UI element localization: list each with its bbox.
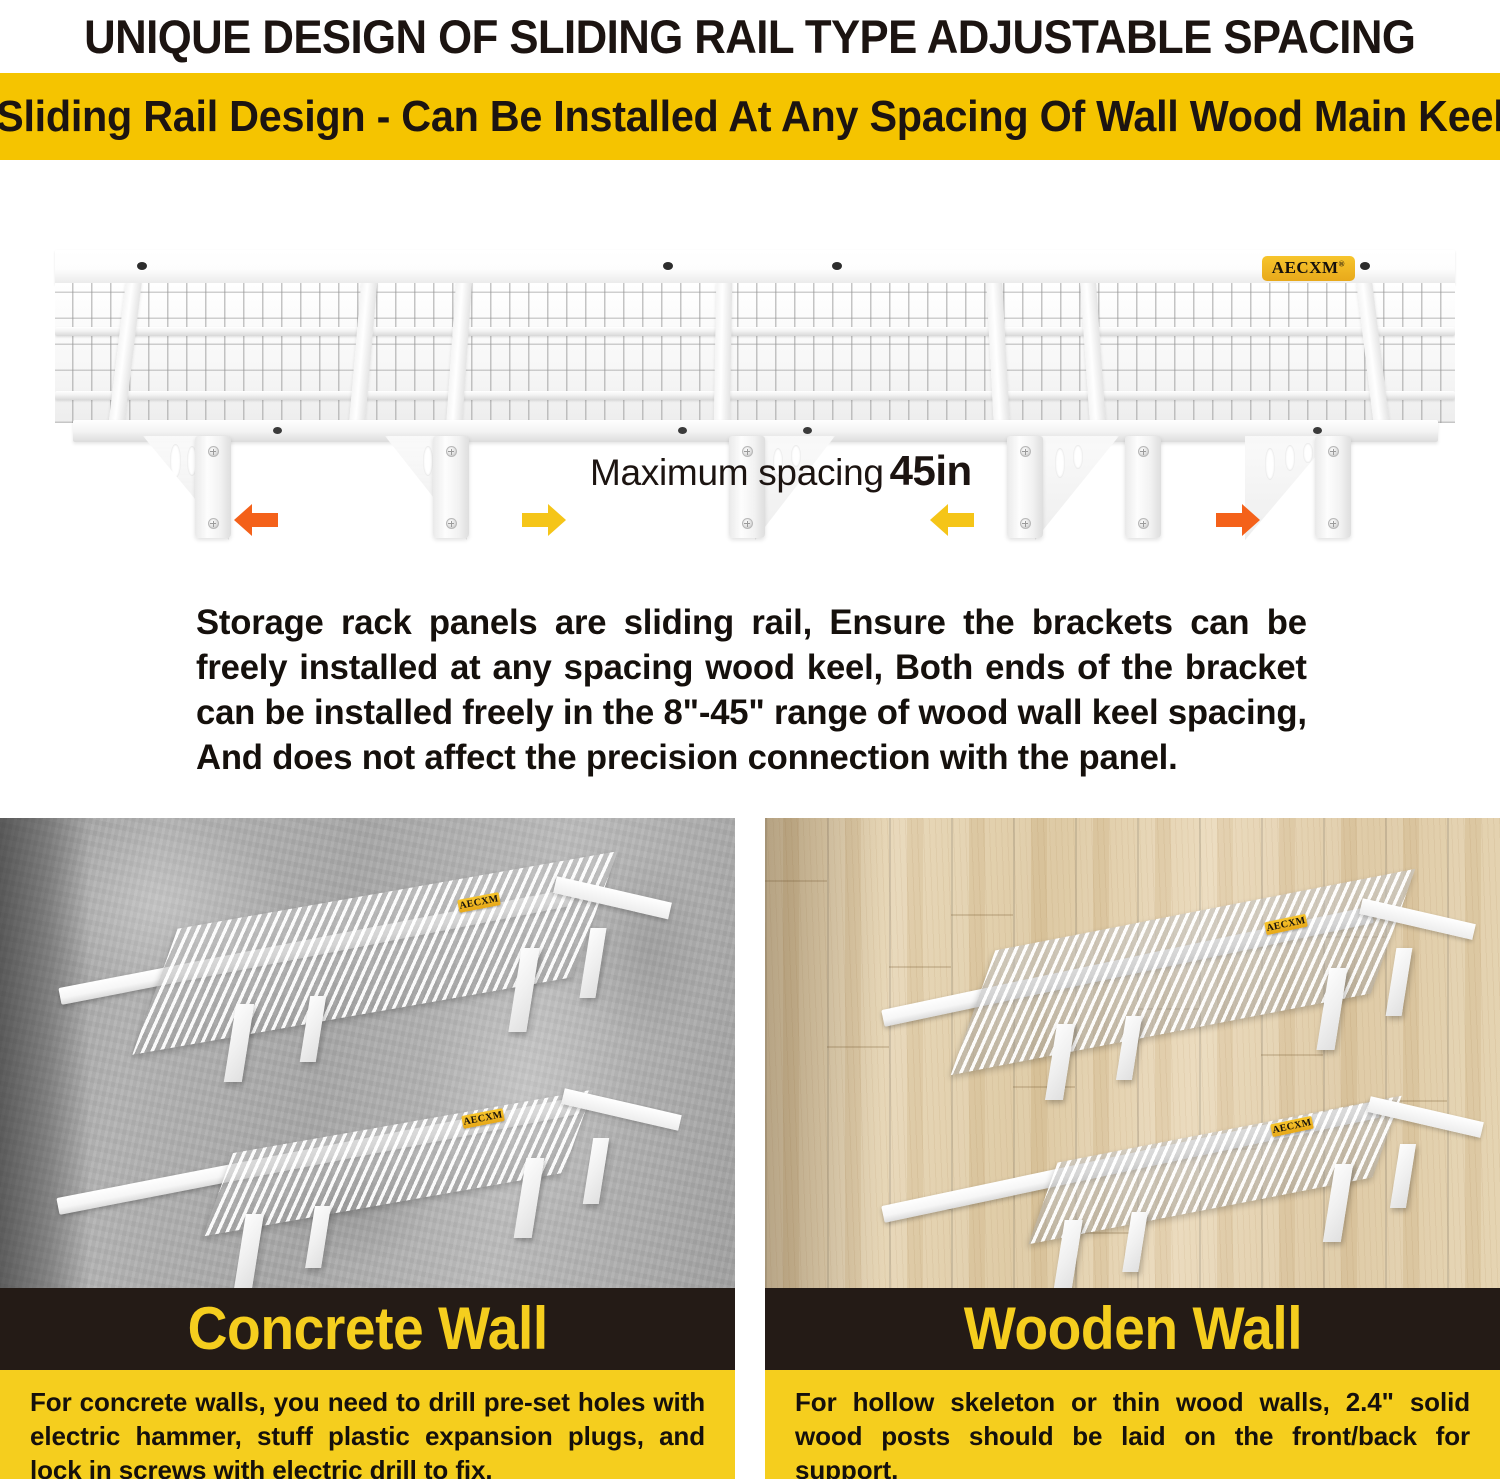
- gusset-cutout: [170, 444, 181, 478]
- caption-bar-wooden: Wooden Wall: [765, 1288, 1500, 1370]
- deck-cross-rail: [55, 327, 1455, 336]
- subtitle-text: Sliding Rail Design - Can Be Installed A…: [0, 95, 1500, 139]
- rail-hole: [832, 262, 842, 270]
- caption-body-concrete: For concrete walls, you need to drill pr…: [0, 1370, 735, 1479]
- shelf-mesh-deck: [132, 851, 617, 1055]
- support-bracket: [1315, 436, 1351, 538]
- bracket-screw: [446, 446, 457, 457]
- caption-body-text-concrete: For concrete walls, you need to drill pr…: [30, 1386, 705, 1479]
- bracket-screw: [446, 518, 457, 529]
- bracket-screw: [1020, 518, 1031, 529]
- headline-section: UNIQUE DESIGN OF SLIDING RAIL TYPE ADJUS…: [0, 0, 1500, 72]
- wall-type-panels: AECXM AECXM Concrete Wall For c: [0, 818, 1500, 1479]
- gusset-cutout: [1285, 445, 1295, 471]
- gusset-cutout: [1055, 448, 1065, 478]
- rail-hole: [1360, 262, 1370, 270]
- deck-cross-rail: [55, 391, 1455, 400]
- support-bracket: [195, 436, 231, 538]
- spacing-label: Maximum spacing: [590, 452, 884, 493]
- back-rail-hole: [1313, 427, 1322, 434]
- bracket-screw: [742, 518, 753, 529]
- bracket-gusset: [1035, 436, 1119, 540]
- arrow-left-orange-icon: [232, 500, 280, 540]
- description-text: Storage rack panels are sliding rail, En…: [196, 600, 1307, 781]
- rail-hole: [663, 262, 673, 270]
- subtitle-banner: Sliding Rail Design - Can Be Installed A…: [0, 73, 1500, 160]
- bracket-screw: [1328, 518, 1339, 529]
- bracket-screw: [1328, 446, 1339, 457]
- arrow-right-orange-icon: [1214, 500, 1262, 540]
- gusset-cutout: [1265, 448, 1275, 480]
- spacing-value: 45in: [890, 447, 972, 494]
- back-rail-hole: [803, 427, 812, 434]
- spacing-caption: Maximum spacing45in: [590, 450, 972, 492]
- bracket-screw: [208, 518, 219, 529]
- concrete-wall-photo: AECXM AECXM: [0, 818, 735, 1288]
- support-bracket: [433, 436, 469, 538]
- registered-mark: ®: [1339, 259, 1345, 268]
- shelf-front-rail: AECXM®: [55, 250, 1455, 285]
- bracket-screw: [208, 446, 219, 457]
- gusset-cutout: [1303, 443, 1313, 463]
- panel-concrete-wall: AECXM AECXM Concrete Wall For c: [0, 818, 735, 1479]
- panel-stile: [714, 283, 732, 423]
- gusset-cutout: [423, 446, 433, 476]
- mounted-shelf-lower: AECXM: [883, 1096, 1431, 1286]
- shelf-bracket: [1390, 1144, 1416, 1208]
- rail-mounting-holes: [55, 250, 1455, 285]
- support-bracket: [1125, 436, 1161, 538]
- back-rail-hole: [273, 427, 282, 434]
- caption-body-text-wooden: For hollow skeleton or thin wood walls, …: [795, 1386, 1470, 1479]
- arrow-right-yellow-icon: [520, 500, 568, 540]
- wood-edge-shadow: [765, 818, 885, 1288]
- mesh-grid: [55, 283, 1455, 423]
- mounted-shelf-lower: AECXM: [58, 1088, 648, 1278]
- shelf-bracket: [583, 1138, 609, 1204]
- mounted-shelf-upper: AECXM: [883, 898, 1423, 1098]
- brand-label-aecxm: AECXM®: [1262, 256, 1355, 281]
- back-rail-hole: [678, 427, 687, 434]
- mounted-shelf-upper: AECXM: [60, 876, 640, 1086]
- gusset-cutout: [1073, 445, 1083, 469]
- description-block: Storage rack panels are sliding rail, En…: [196, 600, 1318, 781]
- brand-label-text: AECXM: [1272, 258, 1339, 277]
- bracket-screw: [1138, 518, 1149, 529]
- panel-wooden-wall: AECXM AECXM Wooden Wall For hol: [765, 818, 1500, 1479]
- bracket-screw: [1020, 446, 1031, 457]
- caption-title-wooden: Wooden Wall: [963, 1299, 1301, 1359]
- shelf-mesh-deck: [55, 283, 1455, 423]
- bracket-screw: [1138, 446, 1149, 457]
- hero-product-section: AECXM®: [0, 160, 1500, 580]
- headline-text: UNIQUE DESIGN OF SLIDING RAIL TYPE ADJUS…: [84, 13, 1415, 60]
- caption-bar-concrete: Concrete Wall: [0, 1288, 735, 1370]
- support-bracket: [1007, 436, 1043, 538]
- infographic-page: UNIQUE DESIGN OF SLIDING RAIL TYPE ADJUS…: [0, 0, 1500, 1479]
- rail-hole: [137, 262, 147, 270]
- caption-body-wooden: For hollow skeleton or thin wood walls, …: [765, 1370, 1500, 1479]
- arrow-left-yellow-icon: [928, 500, 976, 540]
- wooden-wall-photo: AECXM AECXM: [765, 818, 1500, 1288]
- caption-title-concrete: Concrete Wall: [187, 1299, 547, 1359]
- shelf-bracket: [1386, 948, 1413, 1016]
- shelf-rack-illustration: AECXM®: [55, 250, 1455, 540]
